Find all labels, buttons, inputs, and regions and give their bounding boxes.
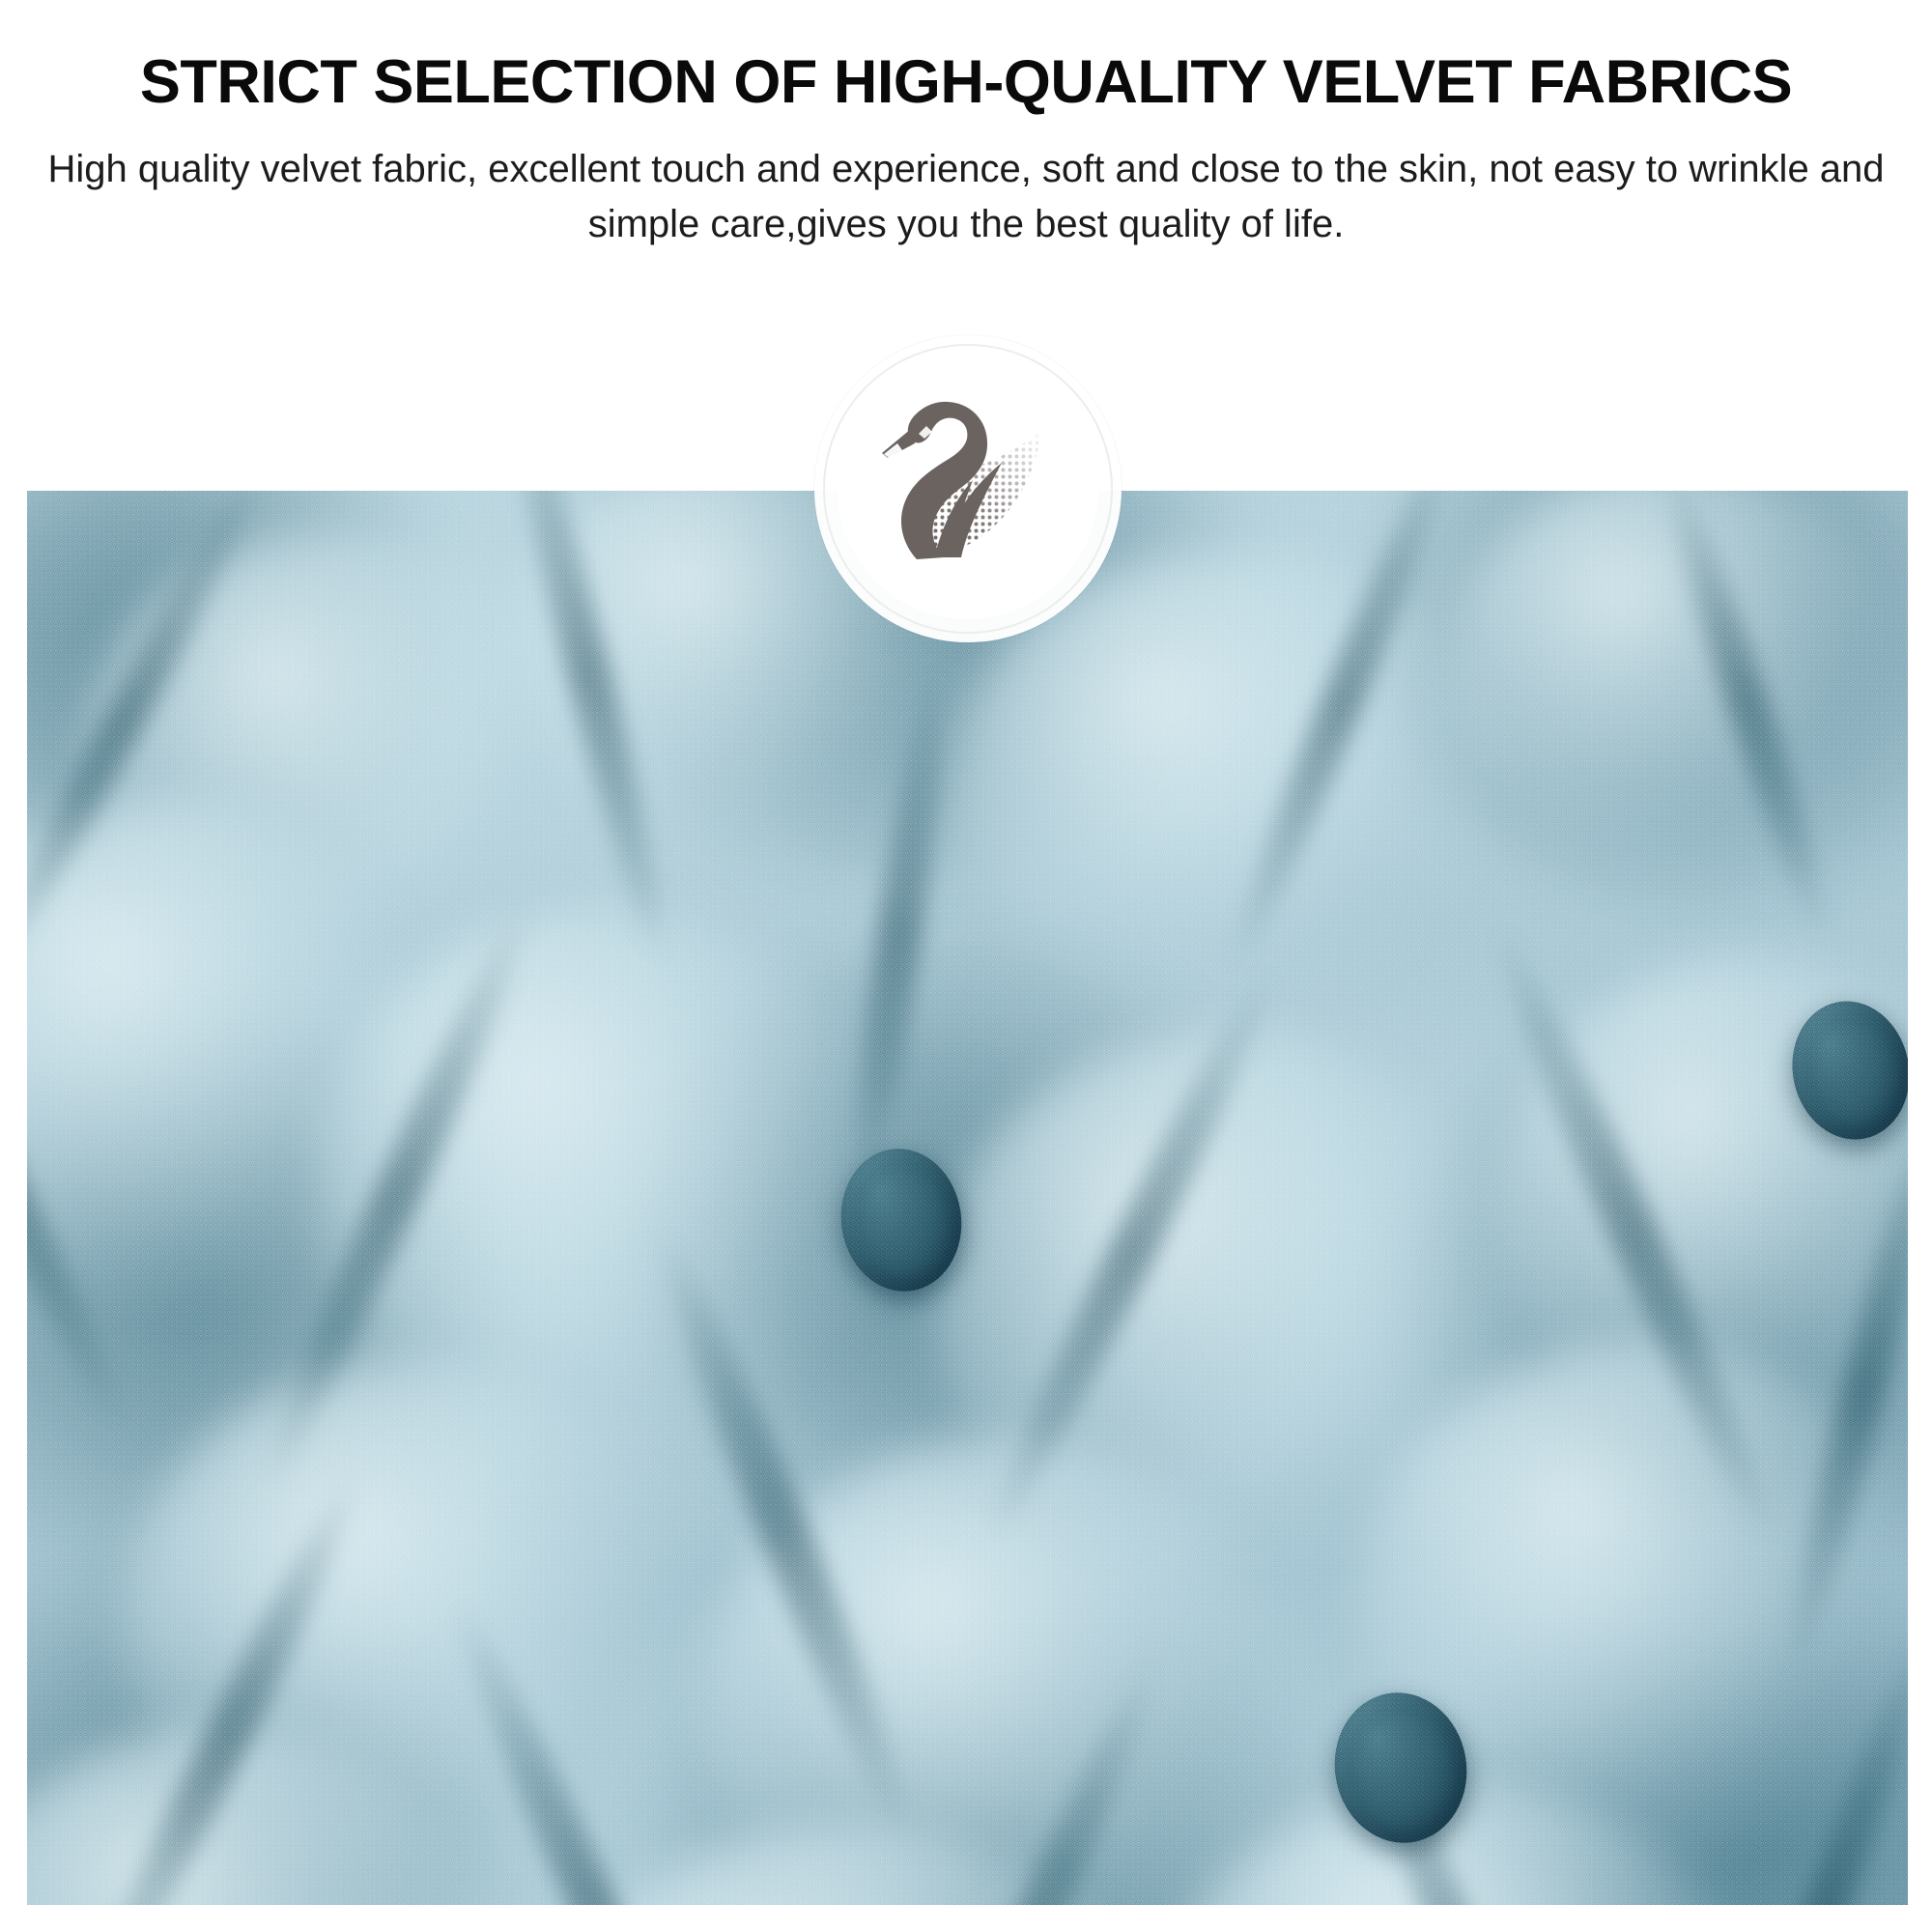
brand-badge xyxy=(814,335,1122,642)
swan-wing-halftone xyxy=(838,358,1098,619)
swan-logo-icon xyxy=(838,358,1098,619)
subtitle-line-1: High quality velvet fabric, excellent to… xyxy=(47,148,1543,190)
header-block: STRICT SELECTION OF HIGH-QUALITY VELVET … xyxy=(0,0,1932,251)
velvet-nap-texture-fine xyxy=(27,491,1908,1905)
product-detail-page: STRICT SELECTION OF HIGH-QUALITY VELVET … xyxy=(0,0,1932,1932)
product-photo xyxy=(27,491,1908,1905)
page-title: STRICT SELECTION OF HIGH-QUALITY VELVET … xyxy=(0,0,1932,115)
page-subtitle: High quality velvet fabric, excellent to… xyxy=(43,115,1889,252)
